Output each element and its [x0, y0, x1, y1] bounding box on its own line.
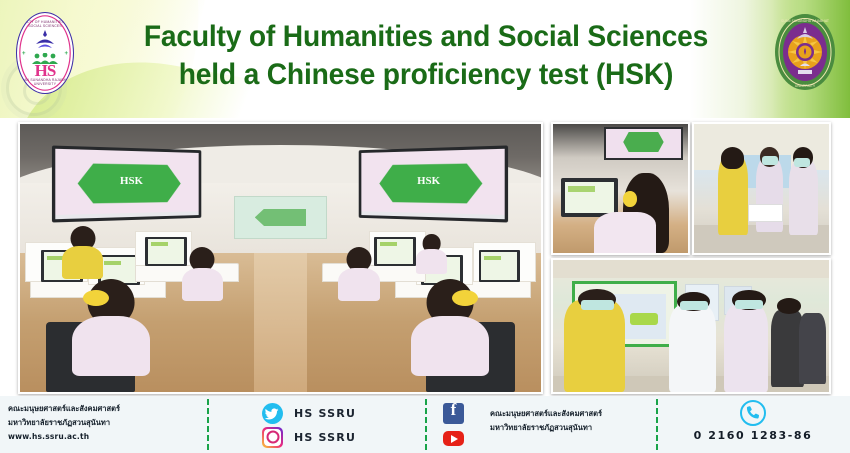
- ssru-university-seal-logo: SUAN SUNANDHA RAJABHAT UNIVERSITY: [774, 13, 836, 91]
- phone-number: 0 2160 1283-86: [656, 429, 850, 442]
- title-line-1: Faculty of Humanities and Social Science…: [106, 18, 745, 56]
- svg-text:UNIVERSITY: UNIVERSITY: [795, 84, 816, 88]
- photo-registration-desk: [692, 122, 831, 255]
- contact-phone-block: 0 2160 1283-86: [656, 400, 850, 442]
- instagram-handle: HS SSRU: [294, 431, 356, 444]
- address-line-2: มหาวิทยาลัยราชภัฏสวนสุนันทา: [8, 416, 203, 430]
- hs-seal-cross-left-icon: +: [22, 51, 26, 57]
- youtube-link[interactable]: [443, 426, 464, 448]
- photo-exam-room-panorama: [18, 122, 543, 394]
- social-links-facebook-youtube: [443, 402, 464, 450]
- photo-student-at-computer: [551, 122, 690, 255]
- hs-seal-ring-text-bottom: SUAN SUNANDHA RAJABHAT UNIVERSITY: [17, 78, 73, 86]
- website-url[interactable]: www.hs.ssru.ac.th: [8, 430, 203, 444]
- svg-text:SUAN SUNANDHA RAJABHAT: SUAN SUNANDHA RAJABHAT: [781, 19, 830, 23]
- facebook-icon[interactable]: [443, 403, 464, 424]
- hs-seal-cross-right-icon: +: [64, 51, 68, 57]
- twitter-handle: HS SSRU: [294, 407, 356, 420]
- poster-root: FACULTY OF HUMANITIES AND SOCIAL SCIENCE…: [0, 0, 850, 453]
- social-links-twitter-instagram: HS SSRU HS SSRU: [262, 402, 356, 450]
- hs-seal-ring-text-top: FACULTY OF HUMANITIES AND SOCIAL SCIENCE…: [17, 20, 73, 28]
- page-title: Faculty of Humanities and Social Science…: [86, 18, 766, 94]
- facebook-page-name: คณะมนุษยศาสตร์และสังคมศาสตร์ มหาวิทยาลัย…: [490, 407, 650, 435]
- facebook-page-line-2: มหาวิทยาลัยราชภัฏสวนสุนันทา: [490, 421, 650, 435]
- footer-divider-2: [425, 399, 427, 450]
- faculty-address-block: คณะมนุษยศาสตร์และสังคมศาสตร์ มหาวิทยาลัย…: [8, 402, 203, 444]
- photo-temperature-screening: [551, 258, 831, 394]
- twitter-link[interactable]: HS SSRU: [262, 402, 356, 424]
- poster-header: FACULTY OF HUMANITIES AND SOCIAL SCIENCE…: [0, 0, 850, 118]
- facebook-page-line-1: คณะมนุษยศาสตร์และสังคมศาสตร์: [490, 407, 650, 421]
- photo-collage: [0, 118, 850, 396]
- hs-faculty-seal-logo: FACULTY OF HUMANITIES AND SOCIAL SCIENCE…: [16, 12, 74, 94]
- youtube-icon[interactable]: [443, 431, 464, 446]
- twitter-icon[interactable]: [262, 403, 283, 424]
- instagram-link[interactable]: HS SSRU: [262, 426, 356, 448]
- phone-icon: [740, 400, 766, 426]
- hsk-logo-screen-right: [380, 163, 483, 203]
- footer-divider-1: [207, 399, 209, 450]
- address-line-1: คณะมนุษยศาสตร์และสังคมศาสตร์: [8, 402, 203, 416]
- facebook-link[interactable]: [443, 402, 464, 424]
- wall-tv-right: [359, 146, 508, 223]
- hsk-logo-screen-left: [78, 163, 181, 203]
- instagram-icon[interactable]: [262, 427, 283, 448]
- poster-footer: คณะมนุษยศาสตร์และสังคมศาสตร์ มหาวิทยาลัย…: [0, 396, 850, 453]
- title-line-2: held a Chinese proficiency test (HSK): [106, 56, 745, 94]
- wall-tv-left: [52, 146, 201, 223]
